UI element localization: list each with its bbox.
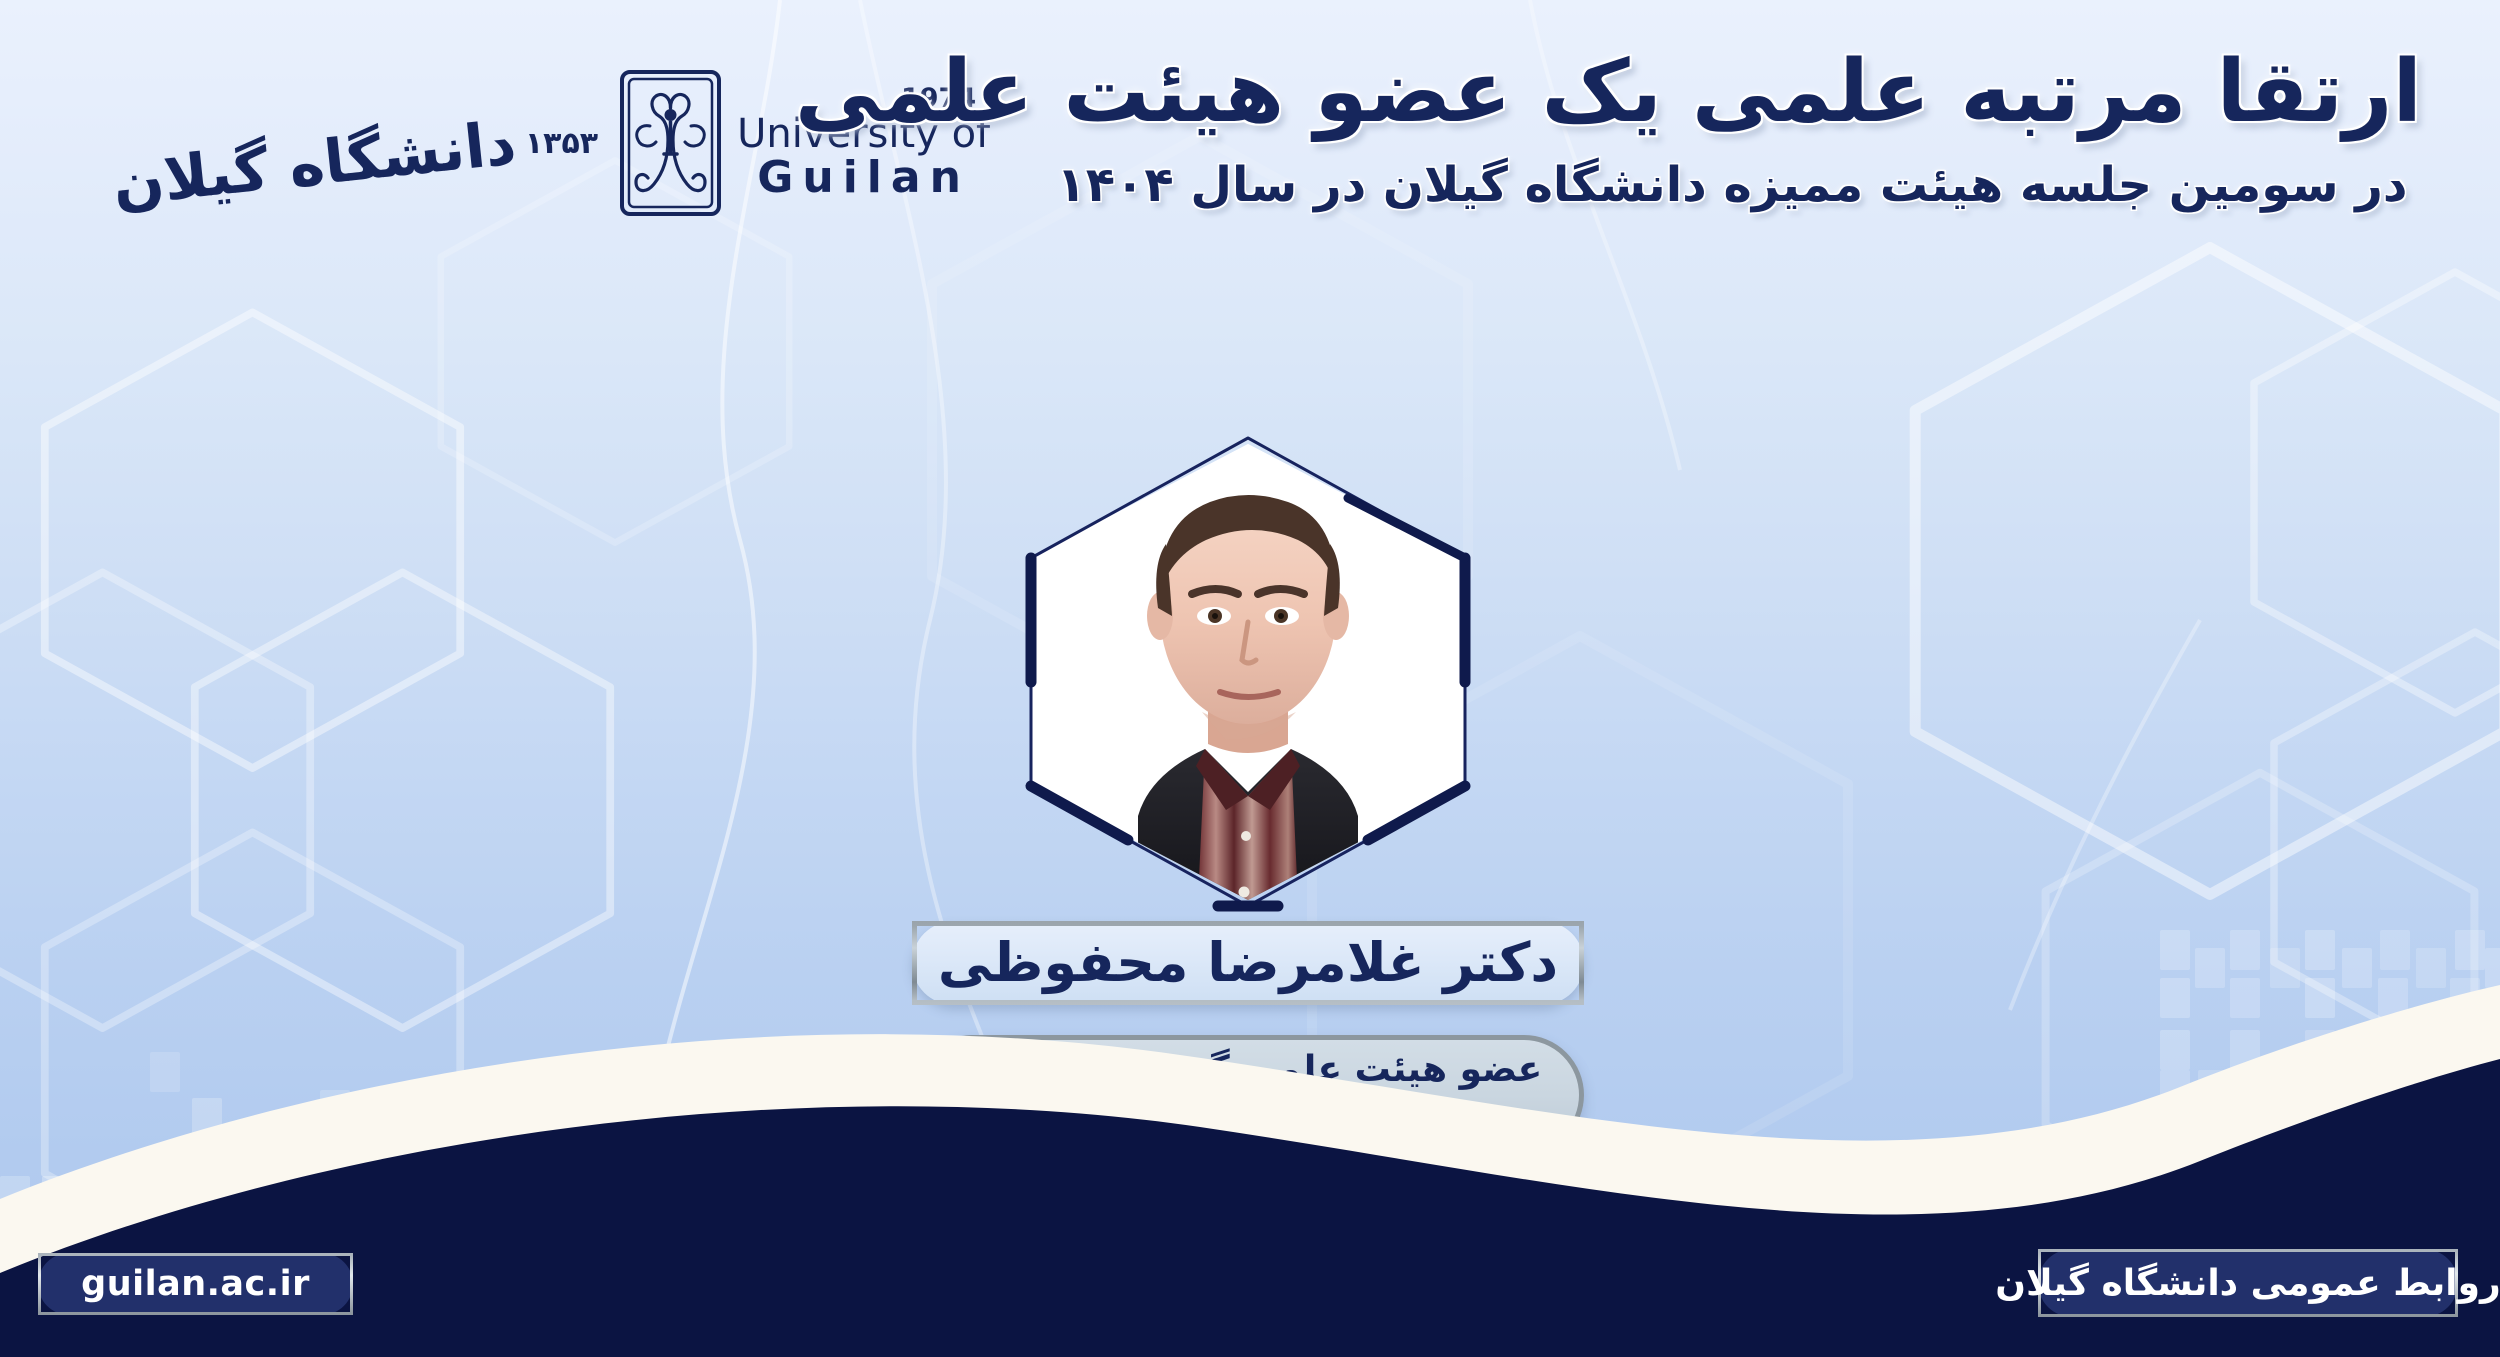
guilan-university-emblem-icon [618, 68, 723, 218]
announcement-poster: دانشگاه گیلان ۱۳۵۳ 1974 University of Gu… [0, 0, 2500, 1357]
public-relations-label: روابط عمومی دانشگاه گیلان [1995, 1263, 2500, 1304]
logo-persian-name: دانشگاه گیلان [110, 113, 519, 215]
public-relations-pill: روابط عمومی دانشگاه گیلان [2038, 1249, 2458, 1317]
page-title: ارتقا مرتبه علمی یک عضو هیئت علمی [1042, 42, 2422, 143]
portrait-frame [1018, 432, 1478, 912]
logo-english-line2: Guilan [737, 155, 990, 201]
logo-persian-text: دانشگاه گیلان [114, 113, 519, 173]
portrait-hexagon-outline [1018, 432, 1478, 912]
page-subtitle: در سومین جلسه هیئت ممیزه دانشگاه گیلان د… [1042, 157, 2422, 215]
website-pill[interactable]: guilan.ac.ir [38, 1253, 353, 1315]
header-titles: ارتقا مرتبه علمی یک عضو هیئت علمی در سوم… [1042, 42, 2422, 215]
logo-persian-year: ۱۳۵۳ [525, 126, 598, 161]
university-logo: دانشگاه گیلان ۱۳۵۳ 1974 University of Gu… [110, 48, 810, 238]
website-label: guilan.ac.ir [81, 1264, 310, 1304]
